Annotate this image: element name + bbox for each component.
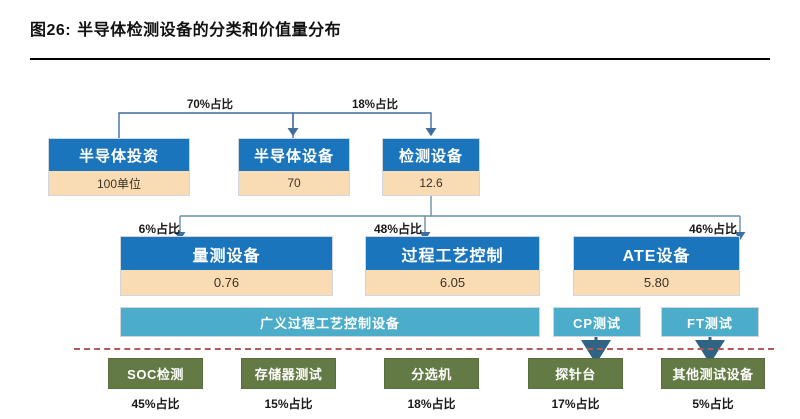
dashed-separator xyxy=(74,348,774,350)
node-title: 半导体投资 xyxy=(49,139,189,171)
box-soc-test[interactable]: SOC检测 xyxy=(108,358,203,389)
figure-title-text: 半导体检测设备的分类和价值量分布 xyxy=(77,22,341,39)
share-label-metrology: 6%占比 xyxy=(120,220,180,237)
node-inspection-equipment[interactable]: 检测设备 12.6 xyxy=(382,138,480,196)
node-value: 100单位 xyxy=(49,171,189,195)
box-handler[interactable]: 分选机 xyxy=(384,358,479,389)
share-other-test-equipment: 5%占比 xyxy=(661,395,765,412)
node-value: 0.76 xyxy=(121,270,332,295)
node-title: 半导体设备 xyxy=(239,139,349,171)
node-ate-equipment[interactable]: ATE设备 5.80 xyxy=(573,236,740,296)
share-memory-test: 15%占比 xyxy=(241,395,336,412)
bar-ft-test[interactable]: FT测试 xyxy=(661,307,759,337)
figure-number: 图26: xyxy=(30,22,71,39)
node-value: 6.05 xyxy=(366,270,539,295)
bar-broad-process-control[interactable]: 广义过程工艺控制设备 xyxy=(120,307,540,337)
share-handler: 18%占比 xyxy=(384,395,479,412)
node-value: 70 xyxy=(239,171,349,195)
box-memory-test[interactable]: 存储器测试 xyxy=(241,358,336,389)
connector-layer xyxy=(0,0,800,419)
node-semiconductor-investment[interactable]: 半导体投资 100单位 xyxy=(48,138,190,196)
node-value: 12.6 xyxy=(383,171,479,195)
share-soc-test: 45%占比 xyxy=(108,395,203,412)
connector-equipment-to-inspection xyxy=(293,113,431,138)
node-title: 过程工艺控制 xyxy=(366,237,539,270)
node-title: 检测设备 xyxy=(383,139,479,171)
node-value: 5.80 xyxy=(574,270,739,295)
bar-cp-test[interactable]: CP测试 xyxy=(553,307,641,337)
box-prober[interactable]: 探针台 xyxy=(528,358,623,389)
node-title: 量测设备 xyxy=(121,237,332,270)
node-metrology-equipment[interactable]: 量测设备 0.76 xyxy=(120,236,333,296)
figure-title: 图26:半导体检测设备的分类和价值量分布 xyxy=(30,16,341,40)
node-process-control[interactable]: 过程工艺控制 6.05 xyxy=(365,236,540,296)
connector-investment-to-equipment xyxy=(119,113,293,138)
share-label-process-control: 48%占比 xyxy=(360,220,422,237)
figure-canvas: 图26:半导体检测设备的分类和价值量分布 xyxy=(0,0,800,419)
node-semiconductor-equipment[interactable]: 半导体设备 70 xyxy=(238,138,350,196)
connector-inspection-to-children xyxy=(180,196,740,236)
arrow-label-70: 70%占比 xyxy=(155,96,265,112)
box-other-test-equipment[interactable]: 其他测试设备 xyxy=(661,358,765,389)
share-label-ate: 46%占比 xyxy=(675,220,737,237)
share-prober: 17%占比 xyxy=(528,395,623,412)
node-title: ATE设备 xyxy=(574,237,739,270)
arrow-label-18: 18%占比 xyxy=(320,96,430,112)
header-divider xyxy=(30,58,770,60)
